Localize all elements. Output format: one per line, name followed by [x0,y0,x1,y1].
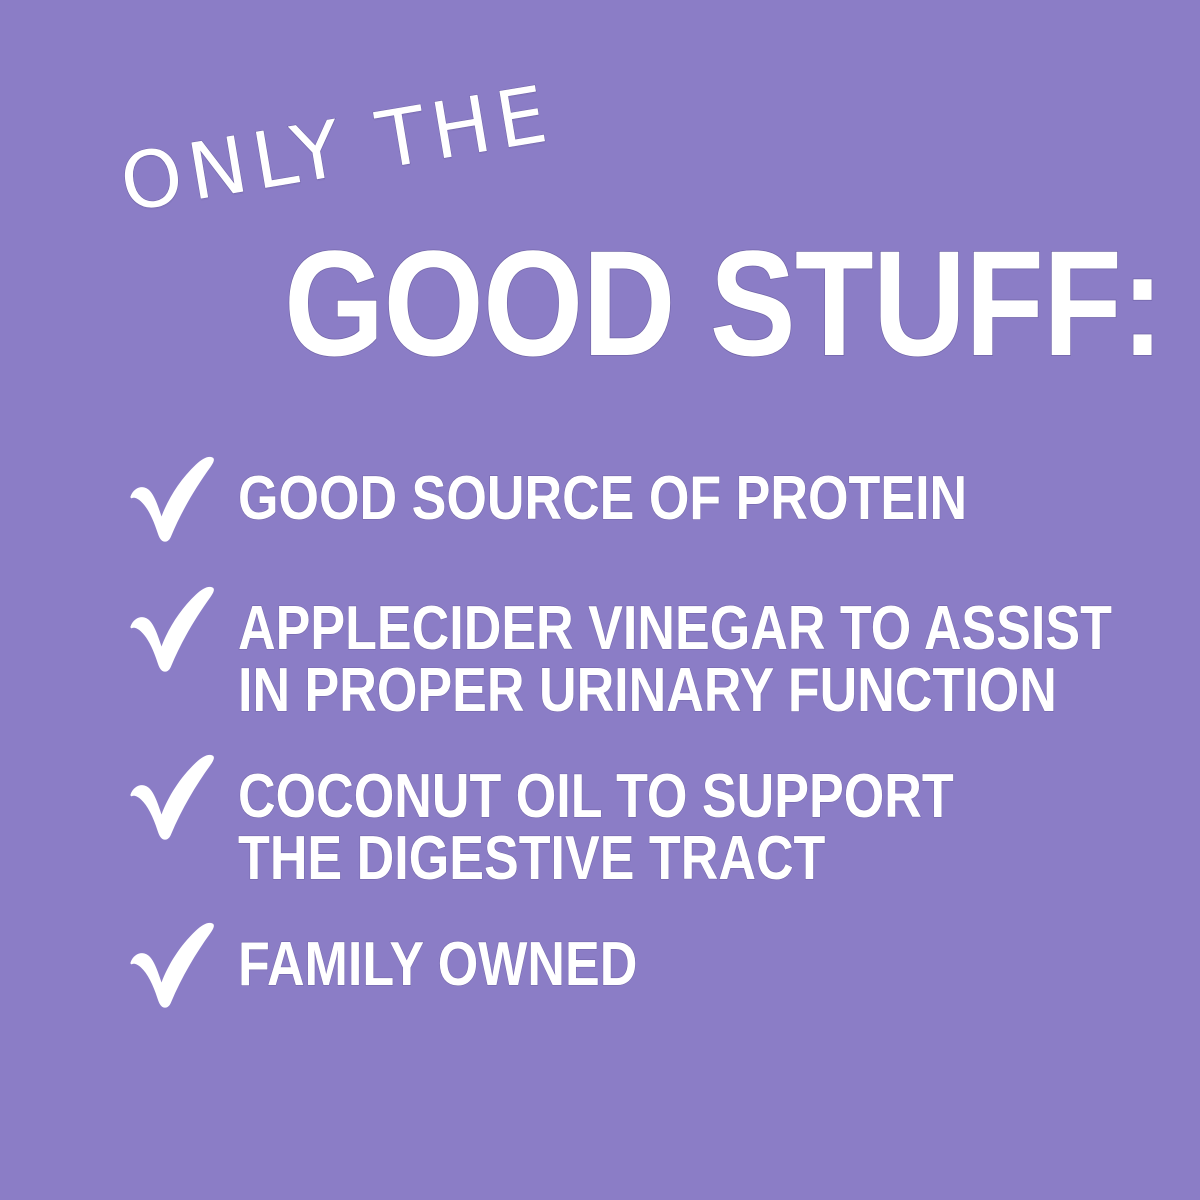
benefits-list: GOOD SOURCE OF PROTEIN APPLECIDER VINEGA… [0,452,1200,1008]
page-title: GOOD STUFF: [284,234,1163,372]
list-item-line: GOOD SOURCE OF PROTEIN [238,468,1046,530]
list-item-line: IN PROPER URINARY FUNCTION [238,660,1112,722]
list-item-line: COCONUT OIL TO SUPPORT [238,766,1046,828]
headline-eyebrow: ONLY THE [115,75,559,224]
checkmark-icon [126,456,222,542]
list-item-line: APPLECIDER VINEGAR TO ASSIST [238,598,1112,660]
checkmark-icon [126,586,222,672]
checkmark-icon [126,922,222,1008]
list-item: GOOD SOURCE OF PROTEIN [0,452,1200,542]
headline-block: ONLY THE GOOD STUFF: [0,0,1200,420]
list-item: APPLECIDER VINEGAR TO ASSIST IN PROPER U… [0,582,1200,722]
list-item-label: GOOD SOURCE OF PROTEIN [238,452,1046,530]
list-item-line: FAMILY OWNED [238,934,1046,996]
list-item-label: COCONUT OIL TO SUPPORT THE DIGESTIVE TRA… [238,750,1046,890]
list-item-label: FAMILY OWNED [238,918,1046,996]
list-item: FAMILY OWNED [0,918,1200,1008]
checkmark-icon [126,754,222,840]
product-benefits-poster: ONLY THE GOOD STUFF: GOOD SOURCE OF PROT… [0,0,1200,1200]
list-item: COCONUT OIL TO SUPPORT THE DIGESTIVE TRA… [0,750,1200,890]
list-item-line: THE DIGESTIVE TRACT [238,828,1046,890]
list-item-label: APPLECIDER VINEGAR TO ASSIST IN PROPER U… [238,582,1112,722]
